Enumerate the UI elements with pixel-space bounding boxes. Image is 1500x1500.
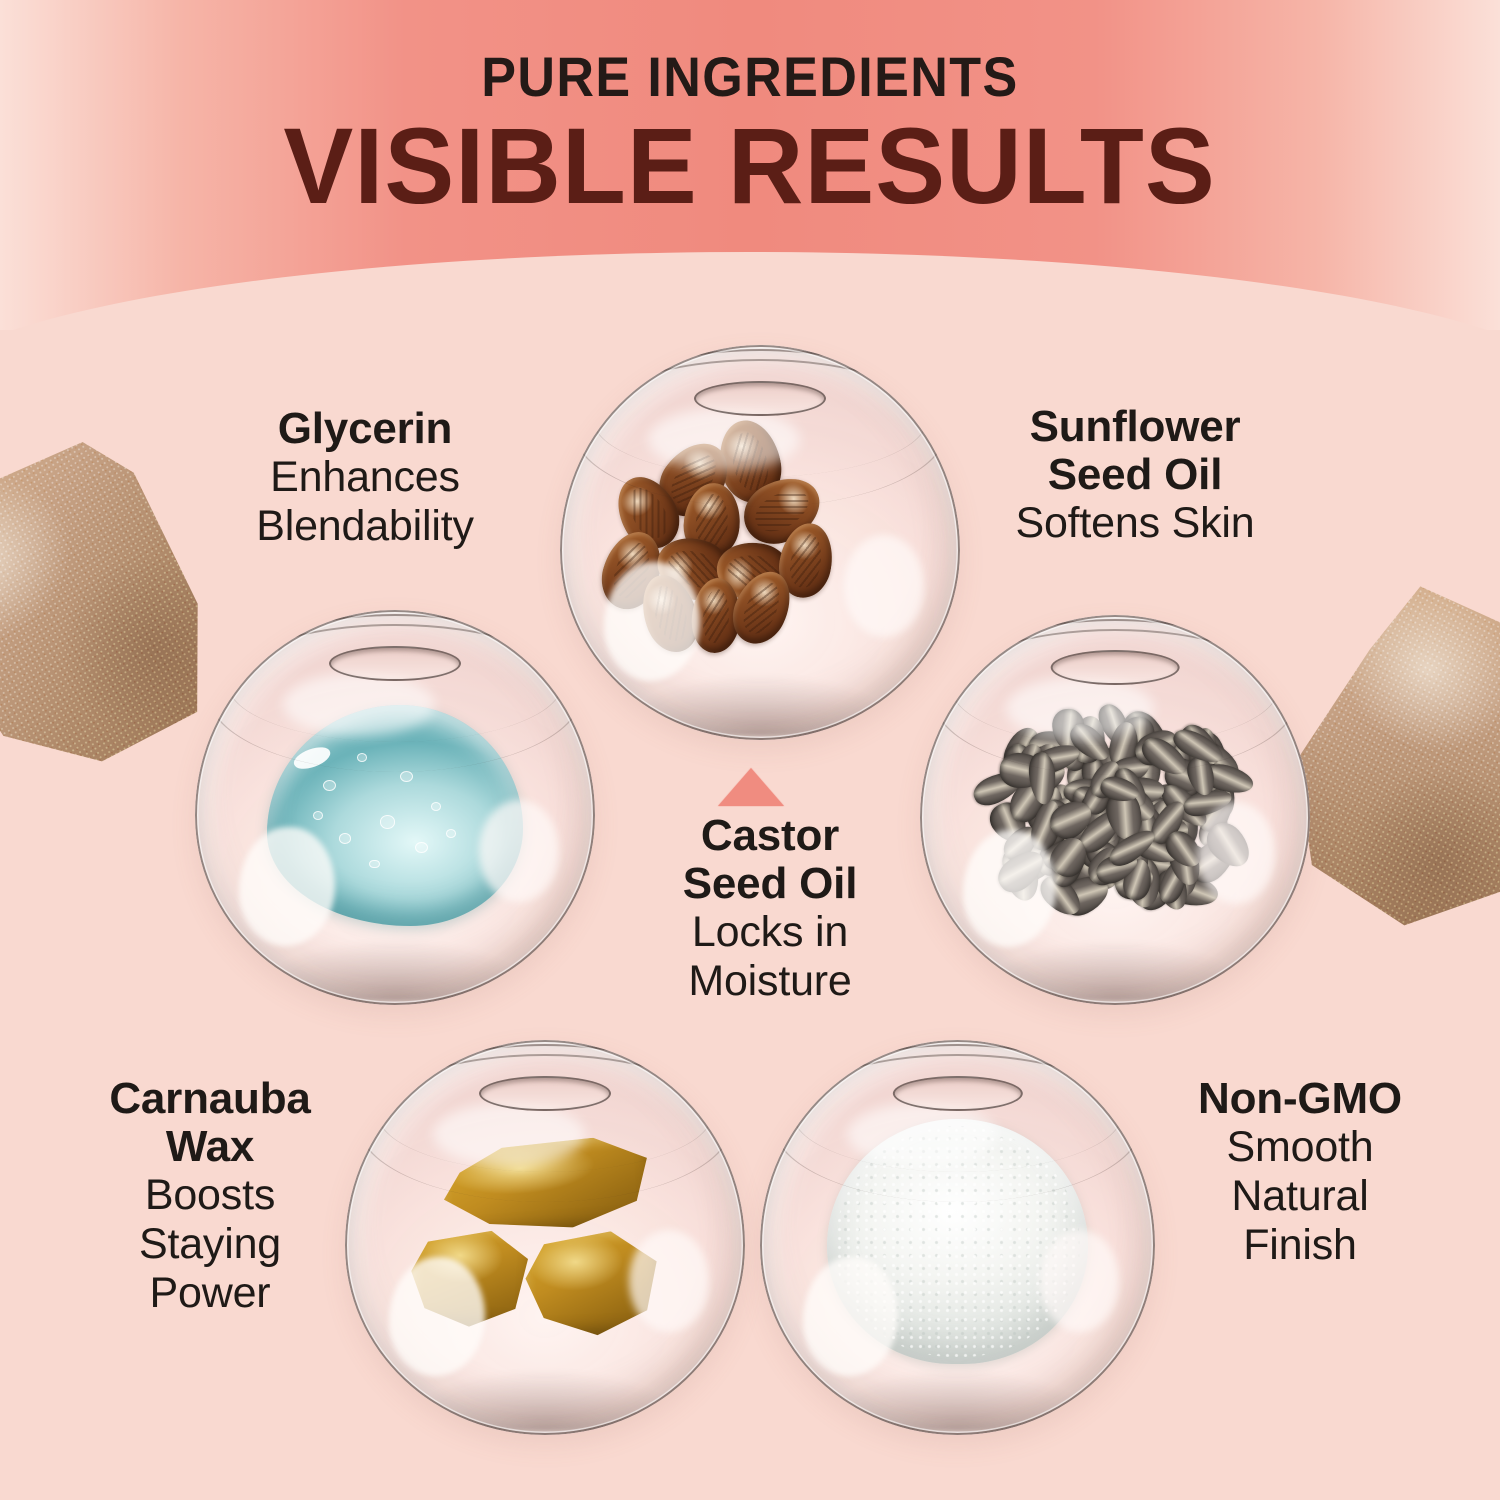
- infographic-canvas: PURE INGREDIENTS VISIBLE RESULTS: [0, 0, 1500, 1500]
- ingredient-desc-line3: Finish: [1120, 1221, 1480, 1270]
- label-sunflower-seed-oil: Sunflower Seed Oil Softens Skin: [940, 403, 1330, 548]
- ingredient-desc-line1: Locks in: [605, 908, 935, 957]
- sphere-rim: [345, 1040, 745, 1435]
- sphere-rim: [920, 615, 1310, 1005]
- sphere-rim: [760, 1040, 1155, 1435]
- ingredient-desc-line2: Blendability: [170, 502, 560, 551]
- ingredient-desc-line3: Power: [30, 1269, 390, 1318]
- ingredient-desc-line1: Softens Skin: [940, 499, 1330, 548]
- ingredient-desc-line2: Natural: [1120, 1172, 1480, 1221]
- sphere-glycerin: [195, 610, 595, 1005]
- ingredient-desc-line2: Staying: [30, 1220, 390, 1269]
- label-castor-seed-oil: Castor Seed Oil Locks in Moisture: [605, 812, 935, 1006]
- ingredient-desc-line1: Smooth: [1120, 1123, 1480, 1172]
- ingredient-name-line1: Castor: [605, 812, 935, 860]
- ingredient-desc-line1: Enhances: [170, 453, 560, 502]
- label-non-gmo: Non-GMO Smooth Natural Finish: [1120, 1075, 1480, 1270]
- title-visible-results: VISIBLE RESULTS: [284, 111, 1216, 221]
- label-glycerin: Glycerin Enhances Blendability: [170, 405, 560, 551]
- sphere-non-gmo: [760, 1040, 1155, 1435]
- triangle-up-icon: [718, 768, 784, 806]
- ingredient-name: Glycerin: [170, 405, 560, 453]
- ingredient-name-line2: Seed Oil: [605, 860, 935, 908]
- sphere-rim: [195, 610, 595, 1005]
- ingredient-desc-line1: Boosts: [30, 1171, 390, 1220]
- title-pure-ingredients: PURE INGREDIENTS: [481, 48, 1018, 105]
- ingredient-name-line1: Sunflower: [940, 403, 1330, 451]
- ingredient-name-line2: Wax: [30, 1123, 390, 1171]
- label-carnauba-wax: Carnauba Wax Boosts Staying Power: [30, 1075, 390, 1318]
- sphere-carnauba-wax: [345, 1040, 745, 1435]
- ingredient-name-line2: Seed Oil: [940, 451, 1330, 499]
- title-block: PURE INGREDIENTS VISIBLE RESULTS: [0, 0, 1500, 250]
- ingredient-desc-line2: Moisture: [605, 957, 935, 1006]
- ingredient-name: Non-GMO: [1120, 1075, 1480, 1123]
- ingredient-name-line1: Carnauba: [30, 1075, 390, 1123]
- sphere-sunflower-seed-oil: [920, 615, 1310, 1005]
- sphere-castor-seed-oil: [560, 345, 960, 740]
- sphere-rim: [560, 345, 960, 740]
